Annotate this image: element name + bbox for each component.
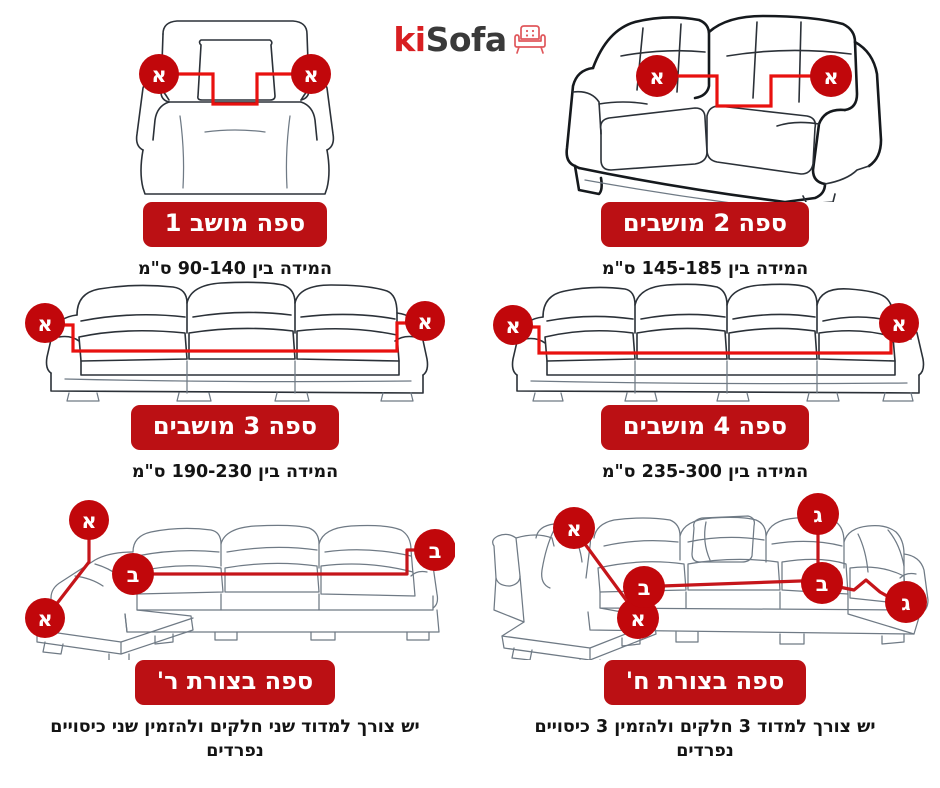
marker-letter: א	[417, 310, 432, 334]
card-caption-sofa-4-seat: המידה בין 235-300 ס"מ	[602, 461, 808, 485]
measure-marker-bet-left: ב	[112, 553, 154, 595]
marker-letter: ב	[429, 539, 442, 563]
sofa-size-guide-grid: א א ספה מושב 1 המידה בין 90-140 ס"מ	[0, 0, 940, 788]
sofa-l-shape-drawing: א א ב ב	[15, 490, 455, 660]
sofa-u-shape-illustration: א א ב ב ג	[475, 490, 935, 660]
measure-marker-aleph-left: א	[493, 305, 533, 345]
marker-letter: א	[303, 63, 318, 87]
sofa-2-seat-drawing: א א	[495, 12, 915, 202]
marker-letter: א	[37, 312, 52, 336]
card-badge-sofa-3-seat: ספה 3 מושבים	[131, 405, 339, 450]
marker-letter: ב	[638, 576, 651, 600]
card-sofa-l-shape: א א ב ב ספה בצורת ר' יש צורך למדוד שני ח…	[0, 490, 470, 780]
measure-marker-aleph-right: א	[291, 54, 331, 94]
marker-letter: ב	[816, 572, 829, 596]
marker-letter: ג	[813, 503, 822, 527]
measure-marker-bet-right: ב	[414, 529, 455, 571]
sofa-4-seat-illustration: א א	[475, 275, 935, 405]
card-sofa-1-seat: א א ספה מושב 1 המידה בין 90-140 ס"מ	[0, 12, 470, 272]
marker-letter: ב	[127, 563, 140, 587]
sofa-l-shape-illustration: א א ב ב	[5, 490, 465, 660]
card-sofa-3-seat: א א ספה 3 מושבים המידה בין 190-230 ס"מ	[0, 275, 470, 485]
card-caption-sofa-u-shape: יש צורך למדוד 3 חלקים ולהזמין 3 כיסויים …	[515, 716, 895, 763]
card-sofa-2-seat: א א ספה 2 מושבים המידה בין 145-185 ס"מ	[470, 12, 940, 272]
card-badge-sofa-1-seat: ספה מושב 1	[143, 202, 327, 247]
measure-marker-gimel-top: ג	[797, 493, 839, 535]
card-badge-sofa-2-seat: ספה 2 מושבים	[601, 202, 809, 247]
card-caption-sofa-l-shape: יש צורך למדוד שני חלקים ולהזמין שני כיסו…	[45, 716, 425, 763]
marker-letter: א	[37, 607, 52, 631]
measure-marker-aleph-right: א	[879, 303, 919, 343]
sofa-2-seat-illustration: א א	[475, 12, 935, 202]
card-badge-sofa-u-shape: ספה בצורת ח'	[604, 660, 807, 705]
measure-marker-aleph-top: א	[69, 500, 109, 540]
measure-marker-bet-left: ב	[623, 566, 665, 608]
sofa-1-seat-illustration: א א	[5, 12, 465, 202]
measure-marker-aleph-left: א	[25, 303, 65, 343]
measure-marker-aleph-left: א	[636, 55, 678, 97]
marker-letter: א	[649, 65, 664, 89]
marker-letter: א	[505, 314, 520, 338]
marker-letter: א	[891, 312, 906, 336]
measure-marker-aleph-left: א	[139, 54, 179, 94]
sofa-3-seat-drawing: א א	[15, 275, 455, 405]
measure-marker-aleph-right: א	[810, 55, 852, 97]
sofa-u-shape-drawing: א א ב ב ג	[480, 490, 930, 660]
marker-letter: א	[630, 607, 645, 631]
card-badge-sofa-4-seat: ספה 4 מושבים	[601, 405, 809, 450]
card-badge-sofa-l-shape: ספה בצורת ר'	[135, 660, 335, 705]
card-caption-sofa-3-seat: המידה בין 190-230 ס"מ	[132, 461, 338, 485]
card-sofa-4-seat: א א ספה 4 מושבים המידה בין 235-300 ס"מ	[470, 275, 940, 485]
marker-letter: א	[566, 517, 581, 541]
measure-marker-aleph-top: א	[553, 507, 595, 549]
marker-letter: א	[81, 509, 96, 533]
marker-letter: ג	[901, 591, 910, 615]
sofa-4-seat-drawing: א א	[485, 275, 925, 405]
measure-marker-aleph-bottom: א	[25, 598, 65, 638]
marker-letter: א	[151, 63, 166, 87]
measure-marker-bet-right: ב	[801, 562, 843, 604]
marker-letter: א	[823, 65, 838, 89]
measure-marker-gimel-right: ג	[885, 581, 927, 623]
card-sofa-u-shape: א א ב ב ג	[470, 490, 940, 780]
sofa-1-seat-drawing: א א	[85, 12, 385, 202]
sofa-3-seat-illustration: א א	[5, 275, 465, 405]
measure-marker-aleph-right: א	[405, 301, 445, 341]
